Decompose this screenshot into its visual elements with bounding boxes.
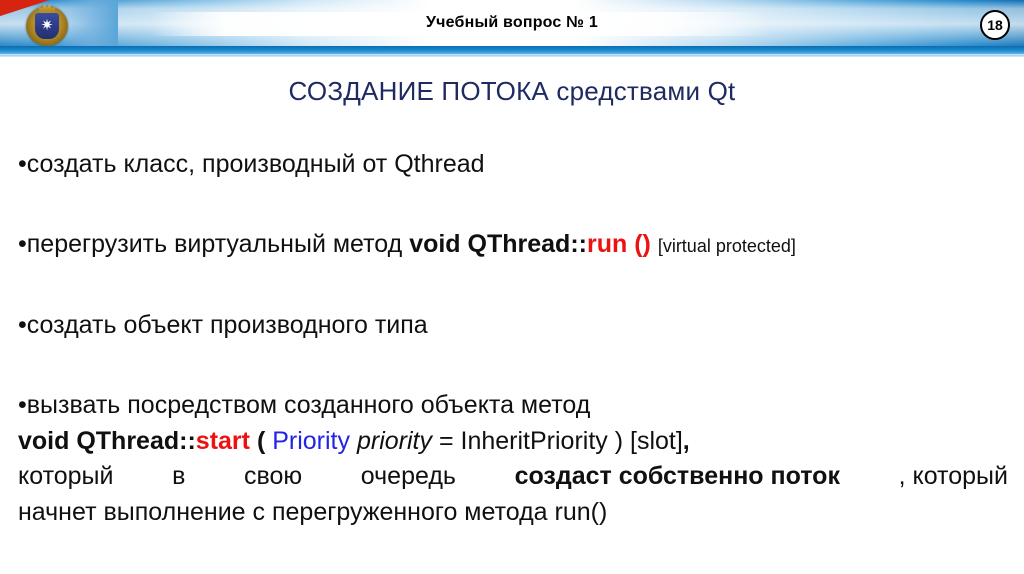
signature-method-name: start — [196, 427, 250, 455]
bullet-item-1: •создать класс, производный от Qthread — [18, 150, 1008, 180]
bullet-glyph: • — [18, 150, 27, 178]
bullet-glyph: • — [18, 311, 27, 339]
spacer-2 — [18, 259, 1008, 311]
paragraph-emphasis: создаст собственно поток — [515, 462, 840, 491]
paragraph-word: свою — [244, 462, 302, 491]
bullet-item-3-text: создать объект производного типа — [27, 311, 428, 339]
header-title: Учебный вопрос № 1 — [0, 14, 1024, 32]
bullet-glyph: • — [18, 230, 27, 258]
spacer-3 — [18, 341, 1008, 391]
bullet-item-4: •вызвать посредством созданного объекта … — [18, 391, 1008, 421]
paragraph-word: который — [18, 462, 113, 491]
bullet-glyph: • — [18, 391, 27, 419]
bullet-item-2-code: void QThread:: — [409, 230, 587, 258]
page-number-badge: 18 — [980, 10, 1010, 40]
signature-trailing-comma: , — [683, 427, 690, 455]
header-band — [0, 46, 1024, 54]
paragraph-word: , который — [899, 462, 1008, 491]
paragraph-word: очередь — [361, 462, 456, 491]
slide-content: •создать класс, производный от Qthread •… — [18, 150, 1008, 527]
signature-return-class: void QThread:: — [18, 427, 196, 455]
paragraph-word: в — [172, 462, 185, 491]
bullet-item-2-method: run () — [587, 230, 651, 258]
paragraph-line-1: который в свою очередь создаст собственн… — [18, 462, 1008, 491]
signature-slot-tag: [slot] — [630, 427, 683, 455]
spacer-1 — [18, 180, 1008, 230]
header-underline — [0, 54, 1024, 57]
bullet-item-2-prefix: перегрузить виртуальный метод — [27, 230, 409, 258]
bullet-item-4-text: вызвать посредством созданного объекта м… — [27, 391, 591, 419]
signature-open-paren: ( — [257, 427, 265, 455]
paragraph-line-2: начнет выполнение с перегруженного метод… — [18, 497, 1008, 527]
signature-param-type: Priority — [272, 427, 350, 455]
bullet-item-3: •создать объект производного типа — [18, 311, 1008, 341]
method-signature: void QThread::start ( Priority priority … — [18, 426, 1008, 456]
signature-equals: = — [439, 427, 454, 455]
page-title: СОЗДАНИЕ ПОТОКА средствами Qt — [0, 76, 1024, 107]
slide-header: ✷ Учебный вопрос № 1 18 — [0, 0, 1024, 57]
signature-default-value: InheritPriority — [461, 427, 608, 455]
signature-param-name: priority — [357, 427, 432, 455]
bullet-item-2: •перегрузить виртуальный метод void QThr… — [18, 230, 1008, 260]
bullet-item-1-text: создать класс, производный от Qthread — [27, 150, 485, 178]
bullet-item-2-annotation: [virtual protected] — [658, 236, 796, 256]
signature-close-paren: ) — [615, 427, 623, 455]
